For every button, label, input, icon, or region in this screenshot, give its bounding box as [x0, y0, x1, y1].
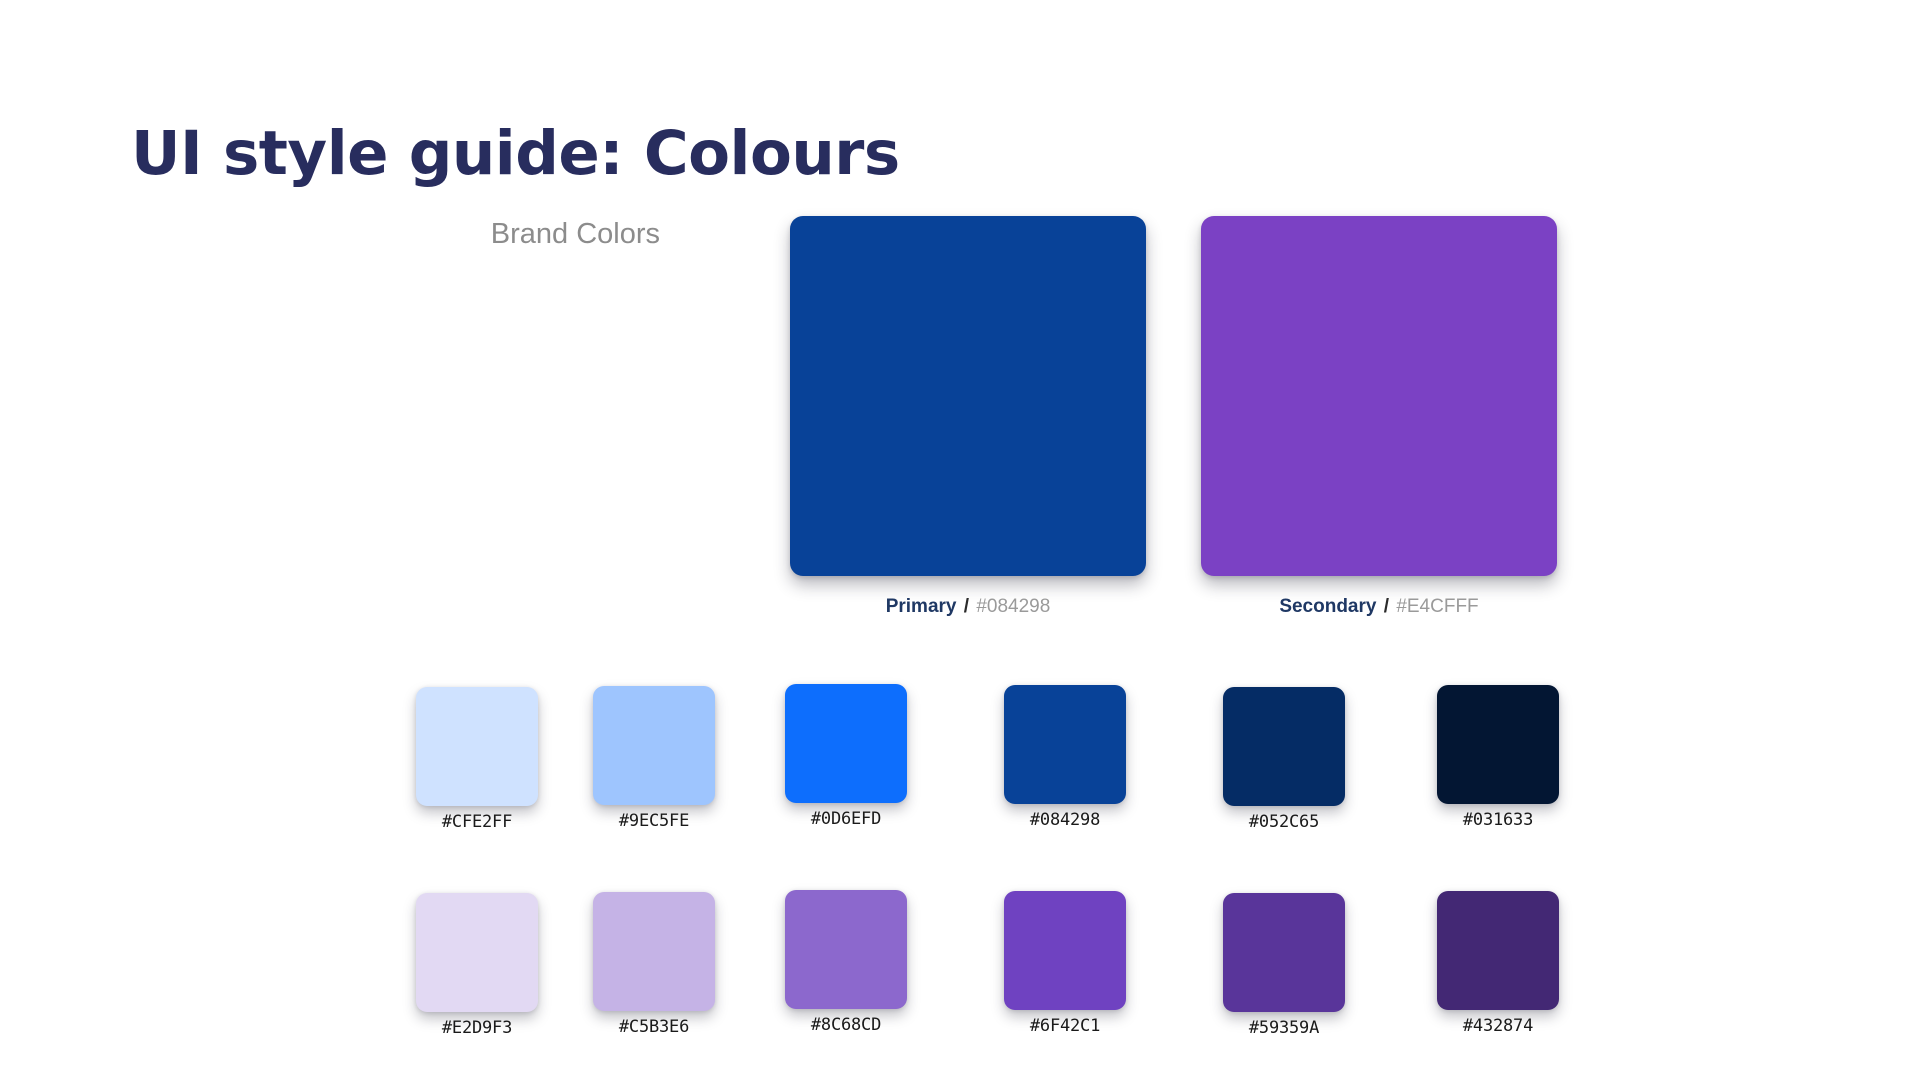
shade-color-chip[interactable] [1437, 891, 1559, 1010]
primary-caption: Primary / #084298 [790, 596, 1146, 618]
shade-hex-label: #E2D9F3 [416, 1018, 538, 1038]
primary-separator: / [964, 596, 969, 617]
shade-color-chip[interactable] [593, 686, 715, 805]
primary-color-chip[interactable] [790, 216, 1146, 576]
shade-hex-label: #0D6EFD [785, 809, 907, 829]
brand-swatch-secondary[interactable]: Secondary / #E4CFFF [1201, 216, 1557, 618]
shade-hex-label: #031633 [1437, 810, 1559, 830]
shade-color-chip[interactable] [785, 890, 907, 1009]
shade-swatch[interactable]: #084298 [1004, 685, 1126, 830]
secondary-separator: / [1384, 596, 1389, 617]
secondary-name: Secondary [1279, 596, 1376, 617]
shade-color-chip[interactable] [416, 687, 538, 806]
shade-hex-label: #052C65 [1223, 812, 1345, 832]
shade-swatch[interactable]: #59359A [1223, 893, 1345, 1038]
shade-swatch[interactable]: #6F42C1 [1004, 891, 1126, 1036]
shade-swatch[interactable]: #E2D9F3 [416, 893, 538, 1038]
shade-hex-label: #C5B3E6 [593, 1017, 715, 1037]
shade-hex-label: #59359A [1223, 1018, 1345, 1038]
shade-color-chip[interactable] [1223, 687, 1345, 806]
shade-color-chip[interactable] [593, 892, 715, 1011]
shade-color-chip[interactable] [785, 684, 907, 803]
page-title: UI style guide: Colours [131, 118, 900, 189]
shade-swatch[interactable]: #432874 [1437, 891, 1559, 1036]
shade-color-chip[interactable] [1223, 893, 1345, 1012]
shade-hex-label: #084298 [1004, 810, 1126, 830]
shade-color-chip[interactable] [1004, 685, 1126, 804]
shade-swatch[interactable]: #052C65 [1223, 687, 1345, 832]
shade-color-chip[interactable] [416, 893, 538, 1012]
shade-hex-label: #CFE2FF [416, 812, 538, 832]
primary-hex: #084298 [976, 596, 1050, 617]
brand-swatch-primary[interactable]: Primary / #084298 [790, 216, 1146, 618]
shade-color-chip[interactable] [1004, 891, 1126, 1010]
shade-swatch[interactable]: #CFE2FF [416, 687, 538, 832]
shade-swatch[interactable]: #C5B3E6 [593, 892, 715, 1037]
shade-swatch[interactable]: #9EC5FE [593, 686, 715, 831]
shade-color-chip[interactable] [1437, 685, 1559, 804]
shade-hex-label: #6F42C1 [1004, 1016, 1126, 1036]
shade-hex-label: #432874 [1437, 1016, 1559, 1036]
secondary-caption: Secondary / #E4CFFF [1201, 596, 1557, 618]
shade-swatch[interactable]: #031633 [1437, 685, 1559, 830]
secondary-hex: #E4CFFF [1396, 596, 1478, 617]
brand-colors-section-label: Brand Colors [300, 218, 660, 251]
shade-hex-label: #9EC5FE [593, 811, 715, 831]
secondary-color-chip[interactable] [1201, 216, 1557, 576]
shade-swatch[interactable]: #0D6EFD [785, 684, 907, 829]
primary-name: Primary [886, 596, 957, 617]
shade-swatch[interactable]: #8C68CD [785, 890, 907, 1035]
shade-hex-label: #8C68CD [785, 1015, 907, 1035]
